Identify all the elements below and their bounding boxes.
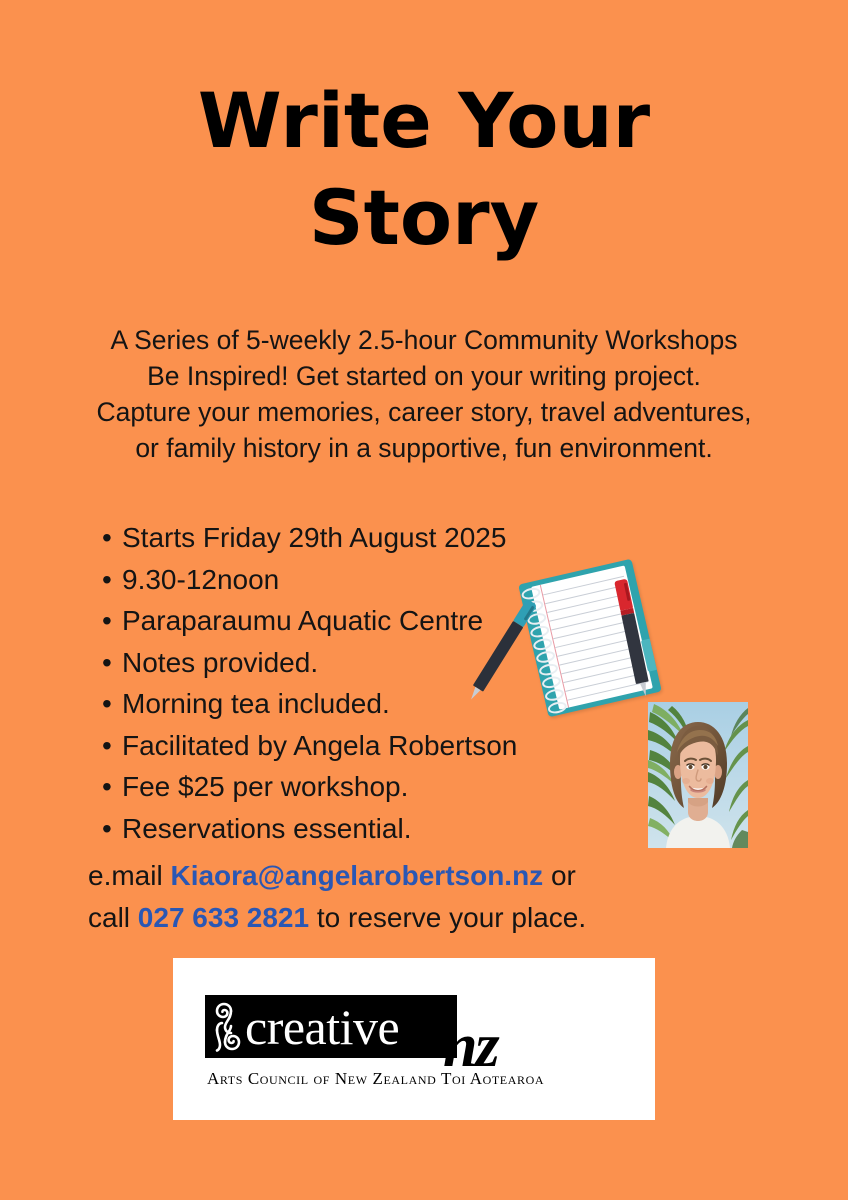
title-line-1: Write Your — [0, 72, 848, 169]
bullet-icon: • — [102, 642, 112, 684]
logo-black-bar: creative — [205, 995, 457, 1058]
list-item-label: Notes provided. — [122, 647, 318, 678]
phone-link[interactable]: 027 633 2821 — [138, 902, 309, 933]
bullet-icon: • — [102, 683, 112, 725]
bullet-icon: • — [102, 517, 112, 559]
contact-block: e.mail Kiaora@angelarobertson.nz or call… — [88, 855, 748, 939]
email-prefix-label: e.mail — [88, 860, 170, 891]
list-item: • Starts Friday 29th August 2025 — [100, 517, 660, 559]
page-title: Write Your Story — [0, 72, 848, 267]
list-item: • Reservations essential. — [100, 808, 660, 850]
notebook-illustration — [518, 562, 678, 724]
list-item-label: Starts Friday 29th August 2025 — [122, 522, 506, 553]
email-suffix-label: or — [543, 860, 576, 891]
logo-suffix-nz: nz — [443, 1015, 498, 1077]
list-item: • Facilitated by Angela Robertson — [100, 725, 660, 767]
contact-email-line: e.mail Kiaora@angelarobertson.nz or — [88, 855, 748, 897]
logo-tagline: Arts Council of New Zealand Toi Aotearoa — [207, 1069, 544, 1089]
list-item-label: Facilitated by Angela Robertson — [122, 730, 517, 761]
intro-line-3: Capture your memories, career story, tra… — [0, 394, 848, 430]
intro-line-2: Be Inspired! Get started on your writing… — [0, 358, 848, 394]
contact-phone-line: call 027 633 2821 to reserve your place. — [88, 897, 748, 939]
bullet-icon: • — [102, 559, 112, 601]
phone-prefix-label: call — [88, 902, 138, 933]
bullet-icon: • — [102, 766, 112, 808]
logo-wordmark: creative — [245, 996, 455, 1058]
intro-paragraph: A Series of 5-weekly 2.5-hour Community … — [0, 322, 848, 466]
bullet-icon: • — [102, 808, 112, 850]
list-item-label: Fee $25 per workshop. — [122, 771, 408, 802]
title-line-2: Story — [0, 169, 848, 266]
intro-line-1: A Series of 5-weekly 2.5-hour Community … — [0, 322, 848, 358]
facilitator-portrait-photo — [648, 702, 748, 848]
koru-spiral-icon — [211, 1000, 245, 1053]
email-link[interactable]: Kiaora@angelarobertson.nz — [170, 860, 543, 891]
list-item-label: Morning tea included. — [122, 688, 390, 719]
bullet-icon: • — [102, 600, 112, 642]
list-item-label: 9.30-12noon — [122, 564, 279, 595]
poster-canvas: Write Your Story A Series of 5-weekly 2.… — [0, 0, 848, 1200]
logo-inner: creative nz Arts Council of New Zealand … — [205, 995, 625, 1085]
creative-nz-logo: creative nz Arts Council of New Zealand … — [173, 958, 655, 1120]
phone-suffix-label: to reserve your place. — [309, 902, 586, 933]
list-item-label: Reservations essential. — [122, 813, 411, 844]
intro-line-4: or family history in a supportive, fun e… — [0, 430, 848, 466]
list-item: • Fee $25 per workshop. — [100, 766, 660, 808]
list-item-label: Paraparaumu Aquatic Centre — [122, 605, 483, 636]
bullet-icon: • — [102, 725, 112, 767]
